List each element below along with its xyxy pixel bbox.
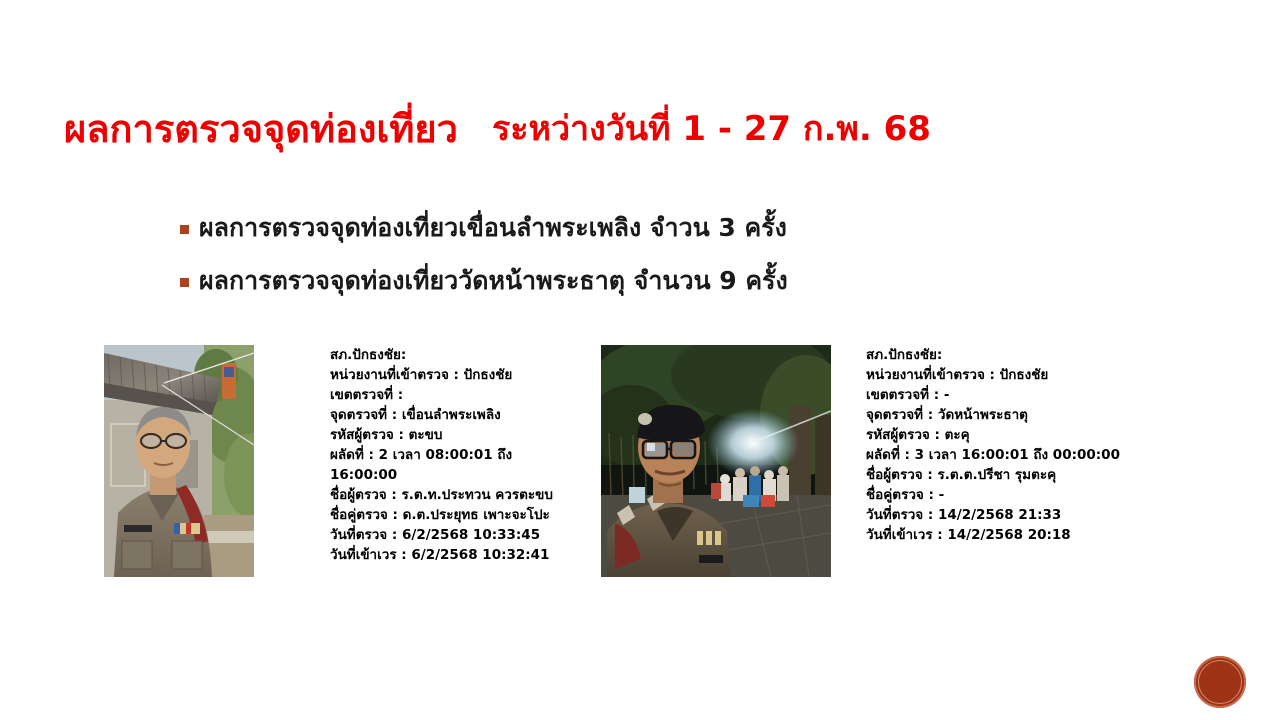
detail-line: วันที่เข้าเวร : 6/2/2568 10:32:41 (330, 545, 580, 565)
detail-line: จุดตรวจที่ : เขื่อนลำพระเพลิง (330, 405, 580, 425)
daytime-photo-graphic (104, 345, 254, 577)
inspection-details-left: สภ.ปักธงชัย: หน่วยงานที่เข้าตรวจ : ปักธง… (330, 345, 580, 565)
detail-line: สภ.ปักธงชัย: (330, 345, 580, 365)
organization-seal (1194, 656, 1246, 708)
page-title: ผลการตรวจจุดท่องเที่ยว ระหว่างวันที่ 1 -… (64, 100, 1064, 160)
list-item: ผลการตรวจจุดท่องเที่ยววัดหน้าพระธาตุ จำน… (180, 265, 1080, 296)
detail-line: รหัสผู้ตรวจ : ตะขบ (330, 425, 580, 445)
inspection-details-right: สภ.ปักธงชัย: หน่วยงานที่เข้าตรวจ : ปักธง… (866, 345, 1166, 545)
detail-line: ชื่อคู่ตรวจ : - (866, 485, 1166, 505)
detail-line: เขตตรวจที่ : (330, 385, 580, 405)
police-officer-nighttime-photo (601, 345, 831, 577)
bullet-text: ผลการตรวจจุดท่องเที่ยววัดหน้าพระธาตุ จำน… (199, 265, 788, 296)
inspection-entry-right: สภ.ปักธงชัย: หน่วยงานที่เข้าตรวจ : ปักธง… (601, 345, 1166, 577)
page-title-main: ผลการตรวจจุดท่องเที่ยว (64, 109, 458, 151)
detail-line: วันที่ตรวจ : 14/2/2568 21:33 (866, 505, 1166, 525)
detail-line: ชื่อคู่ตรวจ : ด.ต.ประยุทธ เพาะจะโปะ (330, 505, 580, 525)
detail-line: วันที่ตรวจ : 6/2/2568 10:33:45 (330, 525, 580, 545)
square-bullet-icon (180, 278, 189, 287)
inspection-entry-left: สภ.ปักธงชัย: หน่วยงานที่เข้าตรวจ : ปักธง… (104, 345, 580, 577)
list-item: ผลการตรวจจุดท่องเที่ยวเขื่อนลำพระเพลิง จ… (180, 212, 1080, 243)
detail-line: หน่วยงานที่เข้าตรวจ : ปักธงชัย (330, 365, 580, 385)
square-bullet-icon (180, 225, 189, 234)
detail-line: ผลัดที่ : 2 เวลา 08:00:01 ถึง 16:00:00 (330, 445, 580, 485)
detail-line: รหัสผู้ตรวจ : ตะคุ (866, 425, 1166, 445)
bullet-list: ผลการตรวจจุดท่องเที่ยวเขื่อนลำพระเพลิง จ… (180, 212, 1080, 319)
bullet-text: ผลการตรวจจุดท่องเที่ยวเขื่อนลำพระเพลิง จ… (199, 212, 787, 243)
detail-line: เขตตรวจที่ : - (866, 385, 1166, 405)
detail-line: สภ.ปักธงชัย: (866, 345, 1166, 365)
nighttime-photo-graphic (601, 345, 831, 577)
police-officer-daytime-photo (104, 345, 254, 577)
page-title-daterange: ระหว่างวันที่ 1 - 27 ก.พ. 68 (492, 111, 931, 148)
detail-line: หน่วยงานที่เข้าตรวจ : ปักธงชัย (866, 365, 1166, 385)
detail-line: วันที่เข้าเวร : 14/2/2568 20:18 (866, 525, 1166, 545)
detail-line: ผลัดที่ : 3 เวลา 16:00:01 ถึง 00:00:00 (866, 445, 1166, 465)
detail-line: ชื่อผู้ตรวจ : ร.ต.ต.ปรีชา รุมตะคุ (866, 465, 1166, 485)
detail-line: ชื่อผู้ตรวจ : ร.ต.ท.ประทวน ควรตะขบ (330, 485, 580, 505)
detail-line: จุดตรวจที่ : วัดหน้าพระธาตุ (866, 405, 1166, 425)
